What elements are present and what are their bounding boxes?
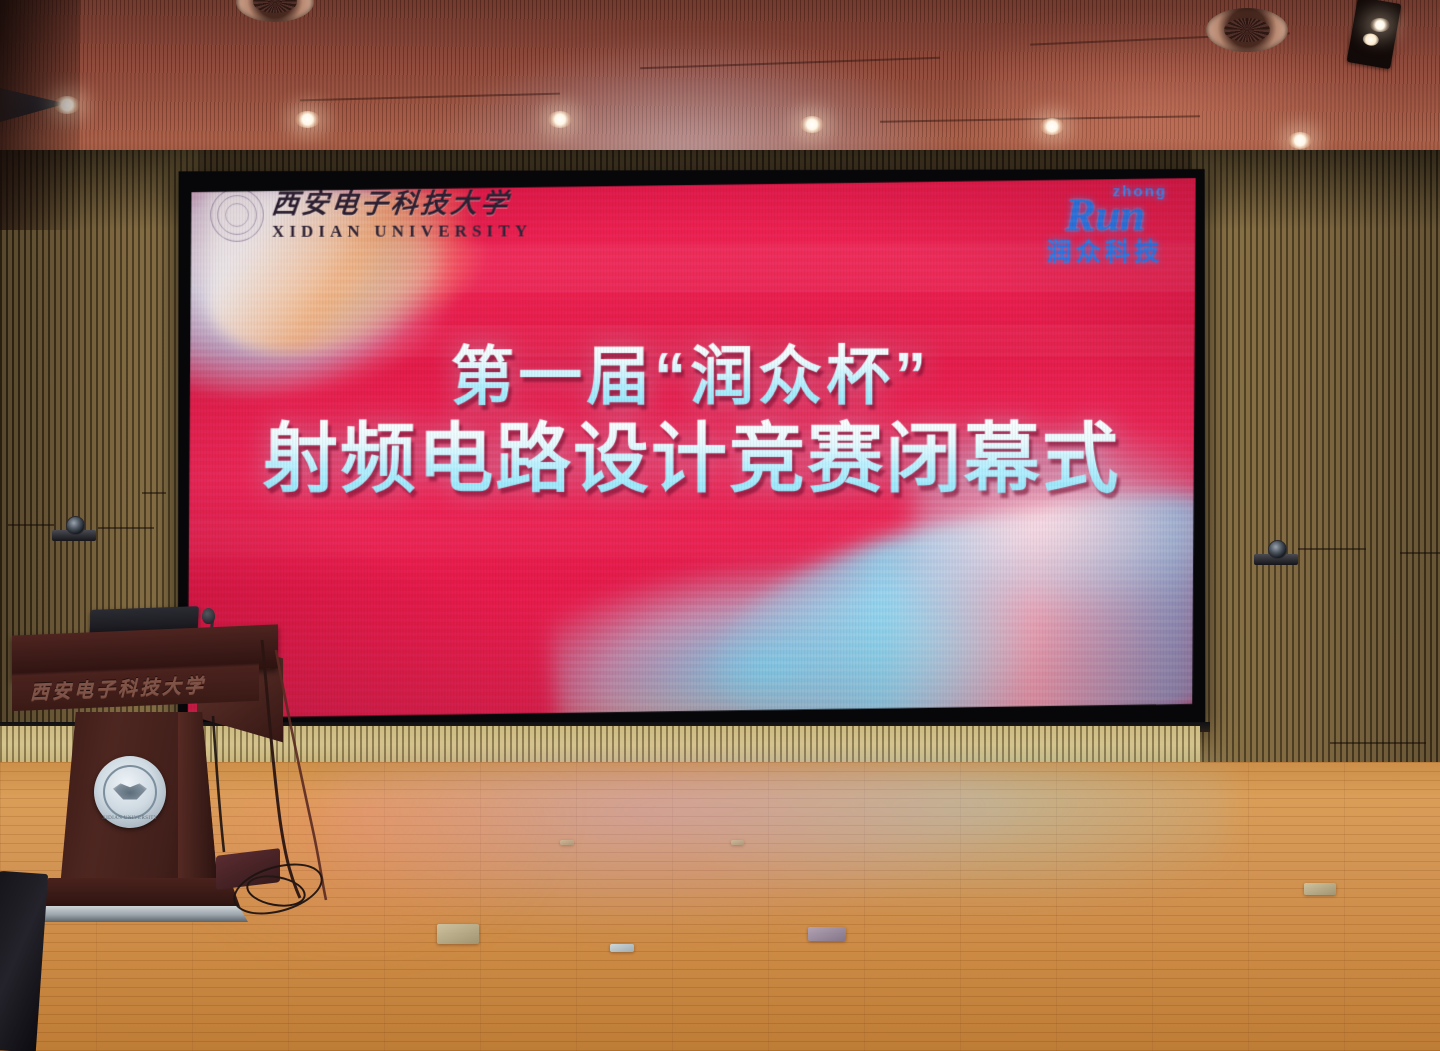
xidian-emblem-icon: XIDIAN UNIVERSITY <box>94 756 166 828</box>
wall-seam <box>1330 742 1426 744</box>
camera-lens <box>66 516 85 535</box>
ceiling-downlight-icon <box>1370 18 1390 32</box>
floor-outlet-plate <box>1304 883 1336 895</box>
left-corner-shadow <box>0 0 80 230</box>
wall-seam <box>1400 552 1440 554</box>
floor-outlet-plate <box>610 944 634 952</box>
camera-lens <box>1268 540 1287 559</box>
wall-seam <box>98 527 154 529</box>
ceiling-downlight-icon <box>1040 118 1064 135</box>
ceiling-downlight-icon <box>295 111 320 128</box>
wall-seam <box>8 524 54 526</box>
ceiling-downlight-icon <box>548 111 572 128</box>
floor-outlet-plate <box>808 927 846 941</box>
air-vent-icon <box>1206 8 1288 52</box>
auditorium-scene: 西安电子科技大学 XIDIAN UNIVERSITY Run zhong 润众科… <box>0 0 1440 1051</box>
emblem-label: XIDIAN UNIVERSITY <box>94 816 166 821</box>
floor-marker <box>560 840 574 845</box>
led-screen-frame: 西安电子科技大学 XIDIAN UNIVERSITY Run zhong 润众科… <box>178 169 1206 729</box>
wall-seam <box>142 492 166 494</box>
floor-outlet-plate <box>437 924 479 944</box>
ceiling-downlight-icon <box>800 116 824 133</box>
ceiling-downlight-icon <box>1288 132 1312 149</box>
wall-seam <box>1298 548 1366 550</box>
screen-vignette <box>188 178 1197 720</box>
wall-slat-texture <box>1190 150 1440 810</box>
podium-foot-strip <box>22 906 248 922</box>
spotlight-icon <box>1362 32 1380 47</box>
microphone-icon <box>202 608 215 624</box>
podium-column-edge <box>178 712 218 888</box>
right-wall <box>1190 150 1440 810</box>
floor-marker <box>731 840 744 845</box>
led-screen-surface: 西安电子科技大学 XIDIAN UNIVERSITY Run zhong 润众科… <box>188 178 1197 720</box>
